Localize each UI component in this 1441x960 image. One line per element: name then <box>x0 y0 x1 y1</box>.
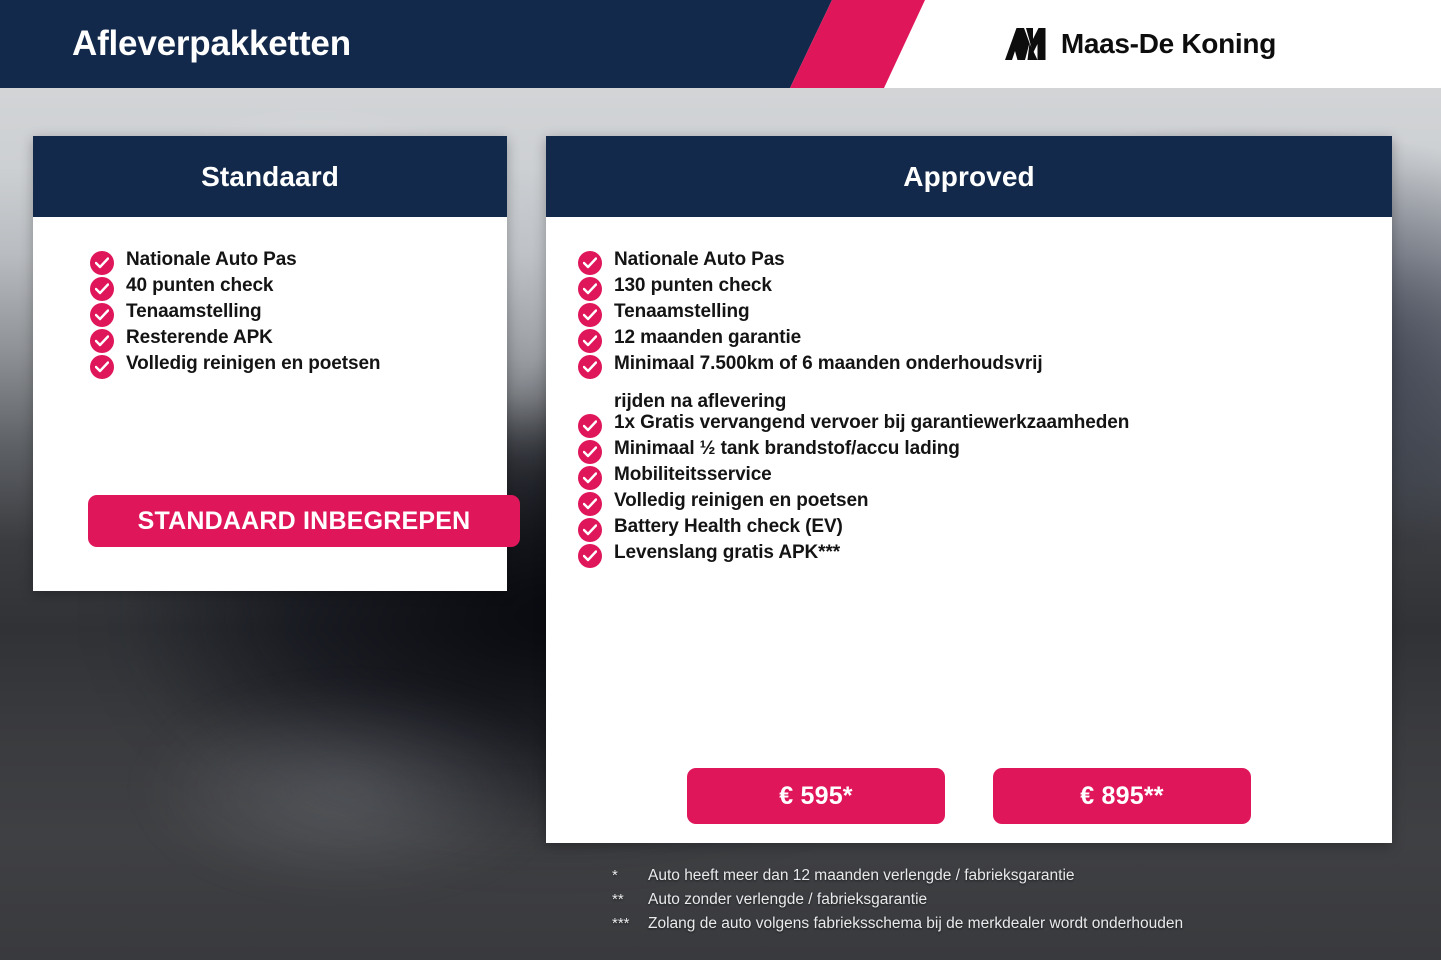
card-standaard-header: Standaard <box>33 136 507 217</box>
list-item: 40 punten check <box>90 275 507 301</box>
footnote-item: *** Zolang de auto volgens fabrieksschem… <box>612 912 1402 936</box>
feature-label: 1x Gratis vervangend vervoer bij garanti… <box>614 412 1129 434</box>
list-item: Volledig reinigen en poetsen <box>90 353 507 379</box>
list-item: Nationale Auto Pas <box>578 249 1392 275</box>
feature-label: 12 maanden garantie <box>614 327 801 349</box>
check-circle-icon <box>578 251 602 275</box>
card-standaard-body: Nationale Auto Pas 40 punten check Tenaa… <box>33 217 507 379</box>
feature-label: Minimaal 7.500km of 6 maanden onderhouds… <box>614 353 1043 374</box>
footnote-mark: * <box>612 864 648 887</box>
footnote-item: ** Auto zonder verlengde / fabrieksgaran… <box>612 888 1402 912</box>
card-approved-body: Nationale Auto Pas 130 punten check Tena… <box>546 217 1392 568</box>
list-item: Battery Health check (EV) <box>578 516 1392 542</box>
feature-label: 130 punten check <box>614 275 772 297</box>
feature-label: Nationale Auto Pas <box>614 249 785 271</box>
standaard-included-button[interactable]: STANDAARD INBEGREPEN <box>88 495 520 547</box>
list-item: 130 punten check <box>578 275 1392 301</box>
list-item: Resterende APK <box>90 327 507 353</box>
feature-label: Nationale Auto Pas <box>126 249 297 271</box>
list-item: 1x Gratis vervangend vervoer bij garanti… <box>578 412 1392 438</box>
standaard-feature-list: Nationale Auto Pas 40 punten check Tenaa… <box>33 239 507 379</box>
price-secondary-button[interactable]: € 895** <box>993 768 1251 824</box>
approved-feature-list: Nationale Auto Pas 130 punten check Tena… <box>546 239 1392 568</box>
check-circle-icon <box>578 414 602 438</box>
brand-lockup: Maas-De Koning <box>1003 27 1276 61</box>
footnote-text: Auto heeft meer dan 12 maanden verlengde… <box>648 864 1075 888</box>
check-circle-icon <box>90 329 114 353</box>
card-standaard-title: Standaard <box>201 161 339 193</box>
list-item: Tenaamstelling <box>90 301 507 327</box>
brand-name: Maas-De Koning <box>1061 28 1276 60</box>
price-primary-button[interactable]: € 595* <box>687 768 945 824</box>
check-circle-icon <box>578 277 602 301</box>
footnote-mark: ** <box>612 888 648 911</box>
poster-root: Afleverpakketten Maas-De Koning Standaar… <box>0 0 1441 960</box>
feature-label: Battery Health check (EV) <box>614 516 843 538</box>
list-item: Minimaal ½ tank brandstof/accu lading <box>578 438 1392 464</box>
footnote-mark: *** <box>612 912 648 935</box>
list-item: 12 maanden garantie <box>578 327 1392 353</box>
list-item: Mobiliteitsservice <box>578 464 1392 490</box>
check-circle-icon <box>578 355 602 379</box>
check-circle-icon <box>90 277 114 301</box>
footnotes: * Auto heeft meer dan 12 maanden verleng… <box>612 864 1402 936</box>
feature-label: Volledig reinigen en poetsen <box>126 353 380 375</box>
list-item: Levenslang gratis APK*** <box>578 542 1392 568</box>
feature-label: 40 punten check <box>126 275 273 297</box>
feature-label: Volledig reinigen en poetsen <box>614 490 868 512</box>
list-item: Tenaamstelling <box>578 301 1392 327</box>
check-circle-icon <box>578 440 602 464</box>
maas-de-koning-logo-icon <box>1003 27 1047 61</box>
footnote-text: Zolang de auto volgens fabrieksschema bi… <box>648 912 1183 936</box>
check-circle-icon <box>578 544 602 568</box>
page-header: Afleverpakketten Maas-De Koning <box>0 0 1441 88</box>
feature-label: Resterende APK <box>126 327 273 349</box>
card-approved-title: Approved <box>903 161 1034 193</box>
card-approved-header: Approved <box>546 136 1392 217</box>
card-standaard: Standaard Nationale Auto Pas 40 punten c… <box>33 136 507 591</box>
check-circle-icon <box>578 518 602 542</box>
page-title: Afleverpakketten <box>72 24 351 64</box>
feature-label-continuation: rijden na aflevering <box>614 391 1043 413</box>
list-item: Minimaal 7.500km of 6 maanden onderhouds… <box>578 353 1392 412</box>
card-approved: Approved Nationale Auto Pas 130 punten c… <box>546 136 1392 843</box>
list-item: Nationale Auto Pas <box>90 249 507 275</box>
footnote-item: * Auto heeft meer dan 12 maanden verleng… <box>612 864 1402 888</box>
feature-label: Mobiliteitsservice <box>614 464 772 486</box>
feature-label-wrapped: Minimaal 7.500km of 6 maanden onderhouds… <box>614 353 1043 412</box>
check-circle-icon <box>90 303 114 327</box>
feature-label: Levenslang gratis APK*** <box>614 542 840 564</box>
check-circle-icon <box>578 492 602 516</box>
feature-label: Tenaamstelling <box>126 301 262 323</box>
check-circle-icon <box>578 466 602 490</box>
feature-label: Minimaal ½ tank brandstof/accu lading <box>614 438 960 460</box>
background-highlight <box>140 688 560 888</box>
footnote-text: Auto zonder verlengde / fabrieksgarantie <box>648 888 927 912</box>
list-item: Volledig reinigen en poetsen <box>578 490 1392 516</box>
feature-label: Tenaamstelling <box>614 301 750 323</box>
check-circle-icon <box>578 329 602 353</box>
approved-price-row: € 595* € 895** <box>546 768 1392 824</box>
check-circle-icon <box>90 251 114 275</box>
check-circle-icon <box>90 355 114 379</box>
check-circle-icon <box>578 303 602 327</box>
